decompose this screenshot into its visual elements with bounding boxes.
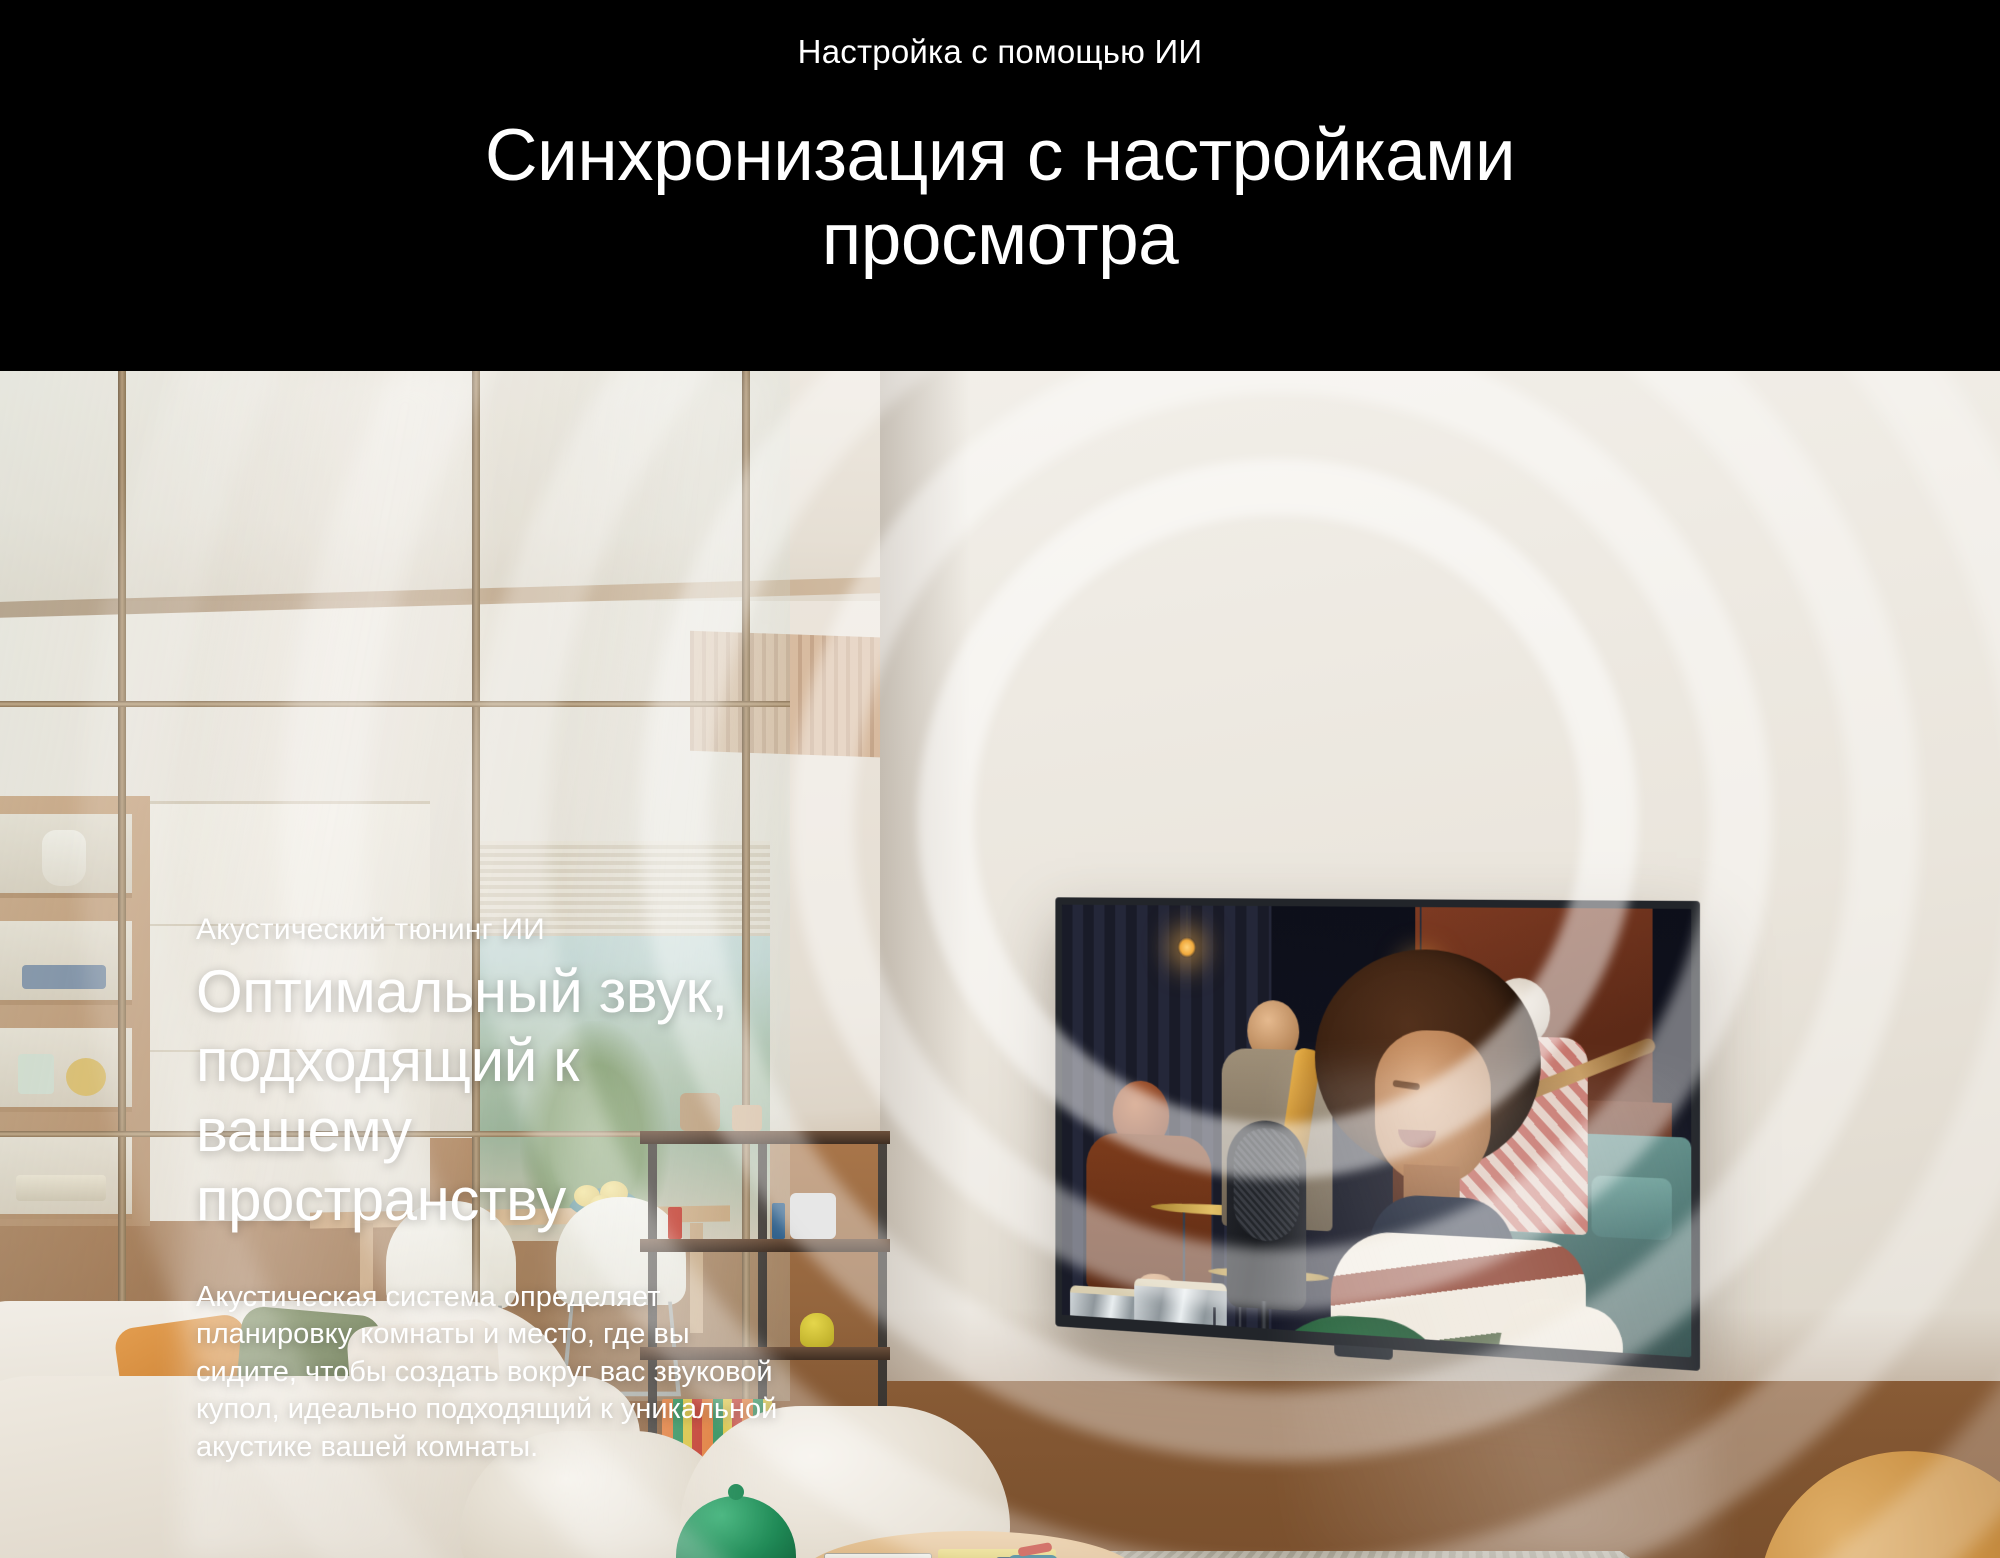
feature-body-line-4: купол, идеально подходящий к уникальной <box>196 1391 836 1428</box>
feature-body-line-1: Акустическая система определяет <box>196 1279 836 1316</box>
stage-light-1 <box>1178 937 1197 958</box>
feature-body-line-2: планировку комнаты и место, где вы <box>196 1316 836 1353</box>
feature-title-line-1: Оптимальный звук, <box>196 957 856 1027</box>
header-eyebrow: Настройка с помощью ИИ <box>798 32 1203 72</box>
lamp-finial <box>728 1484 744 1500</box>
page-title: Синхронизация с настройками просмотра <box>450 114 1550 283</box>
living-room-scene: Акустический тюнинг ИИ Оптимальный звук,… <box>0 371 2000 1558</box>
singer-face <box>1375 1029 1491 1187</box>
singer-eye <box>1393 1080 1420 1091</box>
feature-body-line-5: акустике вашей комнаты. <box>196 1429 836 1466</box>
feature-title-line-2: подходящий к <box>196 1026 856 1096</box>
coffee-table-tray <box>824 1553 932 1558</box>
wall-mounted-tv[interactable] <box>1055 897 1700 1371</box>
feature-title: Оптимальный звук, подходящий к вашему пр… <box>196 957 856 1235</box>
feature-eyebrow: Акустический тюнинг ИИ <box>196 911 856 949</box>
drummer-torso <box>1086 1132 1211 1296</box>
feature-description: Акустическая система определяет планиров… <box>196 1279 836 1466</box>
feature-title-line-4: пространству <box>196 1165 856 1235</box>
singer-mouth <box>1398 1129 1436 1148</box>
tv-wall-shadow <box>880 371 970 1381</box>
page-header: Настройка с помощью ИИ Синхронизация с н… <box>0 0 2000 371</box>
page-title-line-1: Синхронизация с <box>485 115 1063 196</box>
microphone-grill <box>1234 1127 1300 1243</box>
feature-title-line-3: вашему <box>196 1096 856 1166</box>
tv-screen <box>1062 905 1691 1358</box>
feature-text-overlay: Акустический тюнинг ИИ Оптимальный звук,… <box>196 911 856 1466</box>
glass-mullion-horizontal-1 <box>0 701 790 707</box>
toy-airplane <box>990 1543 1068 1558</box>
glass-mullion-vertical-1 <box>118 371 126 1411</box>
feature-body-line-3: сидите, чтобы создать вокруг вас звуково… <box>196 1354 836 1391</box>
